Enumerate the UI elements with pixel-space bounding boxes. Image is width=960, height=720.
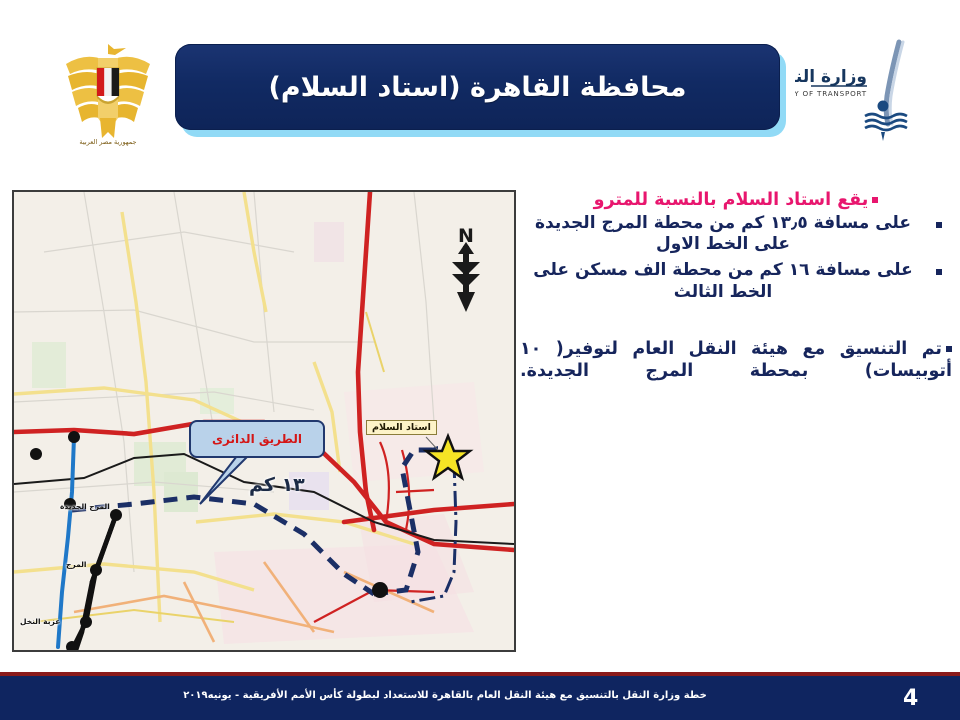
stadium-map-tag: استاد السلام <box>366 420 437 435</box>
ministry-name-english: MINISTRY OF TRANSPORT <box>795 89 867 98</box>
content-panel: يقع استاد السلام بالنسبة للمترو على مساف… <box>520 190 952 640</box>
station-label-ezbet-elnakhl: عزبة النخل <box>20 617 60 626</box>
ring-road-callout: الطريق الدائرى <box>189 420 325 458</box>
coordination-paragraph: تم التنسيق مع هيئة النقل العام لتوفير( ١… <box>520 338 952 384</box>
bullet-item-line1: على مسافة ١٣٫٥ كم من محطة المرج الجديدة … <box>520 213 942 257</box>
ring-road-callout-label: الطريق الدائرى <box>212 432 302 446</box>
lead-statement: يقع استاد السلام بالنسبة للمترو <box>520 190 952 211</box>
bullet-item-line3: على مسافة ١٦ كم من محطة الف مسكن على الخ… <box>520 260 942 304</box>
slide-title-bar: محافظة القاهرة (استاد السلام) <box>175 44 780 130</box>
lead-statement-text: يقع استاد السلام بالنسبة للمترو <box>594 190 869 210</box>
paragraph-bullet-marker <box>946 346 952 352</box>
egypt-eagle-emblem: جمهورية مصر العربية <box>48 38 168 150</box>
page-number: 4 <box>903 686 918 711</box>
slide: جمهورية مصر العربية محافظة القاهرة (استا… <box>0 0 960 720</box>
cairo-metro-map: N الطريق الدائرى ١٣ كم استاد السل <box>12 190 516 652</box>
distance-label: ١٣ كم <box>249 474 305 496</box>
ministry-name-arabic: وزارة النقل <box>795 67 867 87</box>
footer-bar: خطة وزارة النقل بالتنسيق مع هيئة النقل ا… <box>0 676 960 720</box>
ministry-of-transport-logo: وزارة النقل MINISTRY OF TRANSPORT <box>795 38 955 150</box>
page-title: محافظة القاهرة (استاد السلام) <box>269 72 687 103</box>
station-label-marg: المرج <box>66 560 87 569</box>
emblem-caption: جمهورية مصر العربية <box>79 138 136 146</box>
station-label-marg-gedida: المرج الجديدة <box>60 502 110 511</box>
footer-caption: خطة وزارة النقل بالتنسيق مع هيئة النقل ا… <box>0 690 890 701</box>
lead-bullet-marker <box>872 197 878 203</box>
coordination-paragraph-text: تم التنسيق مع هيئة النقل العام لتوفير( ١… <box>520 339 952 382</box>
bullet-list: على مسافة ١٣٫٥ كم من محطة المرج الجديدة … <box>520 213 952 304</box>
